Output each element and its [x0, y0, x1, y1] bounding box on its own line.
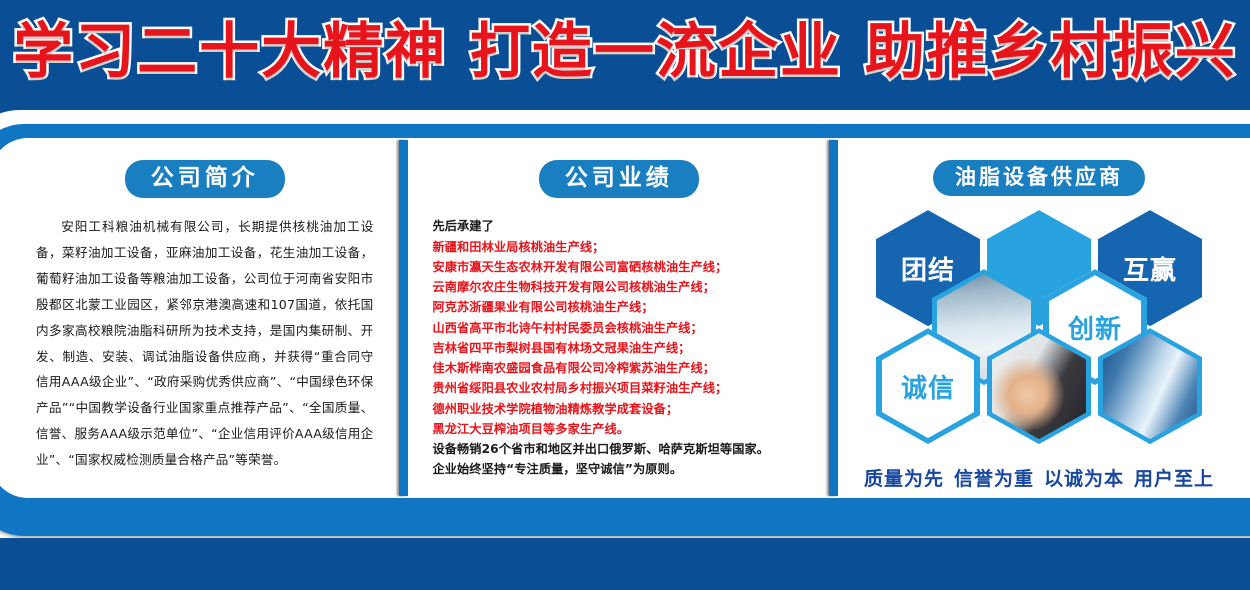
performance-items: 新疆和田林业局核桃油生产线；安康市瀛天生态农林开发有限公司富硒核桃油生产线；云南… [432, 237, 807, 440]
banner-header: 学习二十大精神 打造一流企业 助推乡村振兴 [0, 0, 1250, 104]
performance-item: 阿克苏浙疆果业有限公司核桃油生产线； [432, 297, 807, 317]
badge-wrap-supplier: 油脂设备供应商 [850, 140, 1228, 196]
hex-label: 创新 [1068, 309, 1122, 346]
supplier-motto: 质量为先信誉为重以诚为本用户至上 [850, 464, 1228, 491]
hex-label: 诚信 [901, 368, 955, 405]
badge-wrap-performance: 公司业绩 [428, 140, 809, 198]
performance-tail-line: 设备畅销26个省市和地区并出口俄罗斯、哈萨克斯坦等国家。 [432, 439, 807, 459]
performance-item: 贵州省绥阳县农业农村局乡村振兴项目菜籽油生产线； [432, 378, 807, 398]
footer-navy-band [0, 538, 1250, 590]
performance-tail: 设备畅销26个省市和地区并出口俄罗斯、哈萨克斯坦等国家。企业始终坚持“专注质量，… [432, 439, 807, 480]
panel-company-performance: 公司业绩 先后承建了 新疆和田林业局核桃油生产线；安康市瀛天生态农林开发有限公司… [408, 140, 829, 496]
performance-item: 山西省高平市北诗午村村民委员会核桃油生产线； [432, 318, 807, 338]
performance-tail-line: 企业始终坚持“专注质量，坚守诚信”为原则。 [432, 459, 807, 479]
hex-label: 互赢 [1123, 250, 1177, 287]
panel-row: 公司简介 安阳工科粮油机械有限公司，长期提供核桃油加工设备，菜籽油加工设备，亚麻… [10, 140, 1240, 496]
handshake-photo-icon [992, 333, 1086, 439]
panel-divider-2 [829, 140, 838, 496]
skyscraper-photo-icon [1103, 333, 1197, 439]
poster-board: 学习二十大精神 打造一流企业 助推乡村振兴 公司简介 安阳工科粮油机械有限公司，… [0, 0, 1250, 590]
hex-label: 团结 [901, 250, 955, 287]
panel-supplier: 油脂设备供应商 团结 互赢 [838, 140, 1240, 496]
performance-lead: 先后承建了 [432, 216, 807, 236]
motto-phrase: 用户至上 [1134, 468, 1214, 490]
motto-phrase: 质量为先 [864, 468, 944, 490]
badge-company-performance: 公司业绩 [539, 160, 699, 198]
performance-item: 德州职业技术学院植物油精炼教学成套设备； [432, 399, 807, 419]
badge-wrap-profile: 公司简介 [32, 140, 377, 198]
badge-supplier: 油脂设备供应商 [933, 160, 1145, 196]
motto-phrase: 信誉为重 [954, 468, 1034, 490]
banner-title: 学习二十大精神 打造一流企业 助推乡村振兴 [13, 22, 1237, 82]
performance-list: 先后承建了 新疆和田林业局核桃油生产线；安康市瀛天生态农林开发有限公司富硒核桃油… [432, 216, 807, 479]
performance-item: 佳木斯桦南农盛园食品有限公司冷榨紫苏油生产线； [432, 358, 807, 378]
panel-company-profile: 公司简介 安阳工科粮油机械有限公司，长期提供核桃油加工设备，菜籽油加工设备，亚麻… [10, 140, 399, 496]
hexagon-cluster: 团结 互赢 创新 [850, 208, 1228, 450]
performance-item: 黑龙江大豆榨油项目等多家生产线。 [432, 419, 807, 439]
performance-item: 云南摩尔农庄生物科技开发有限公司核桃油生产线； [432, 277, 807, 297]
motto-phrase: 以诚为本 [1044, 468, 1124, 490]
performance-item: 安康市瀛天生态农林开发有限公司富硒核桃油生产线； [432, 257, 807, 277]
panel-divider-1 [399, 140, 408, 496]
company-profile-body: 安阳工科粮油机械有限公司，长期提供核桃油加工设备，菜籽油加工设备，亚麻油加工设备… [36, 214, 373, 472]
performance-item: 新疆和田林业局核桃油生产线； [432, 237, 807, 257]
performance-item: 吉林省四平市梨树县国有林场文冠果油生产线； [432, 338, 807, 358]
badge-company-profile: 公司简介 [125, 160, 285, 198]
